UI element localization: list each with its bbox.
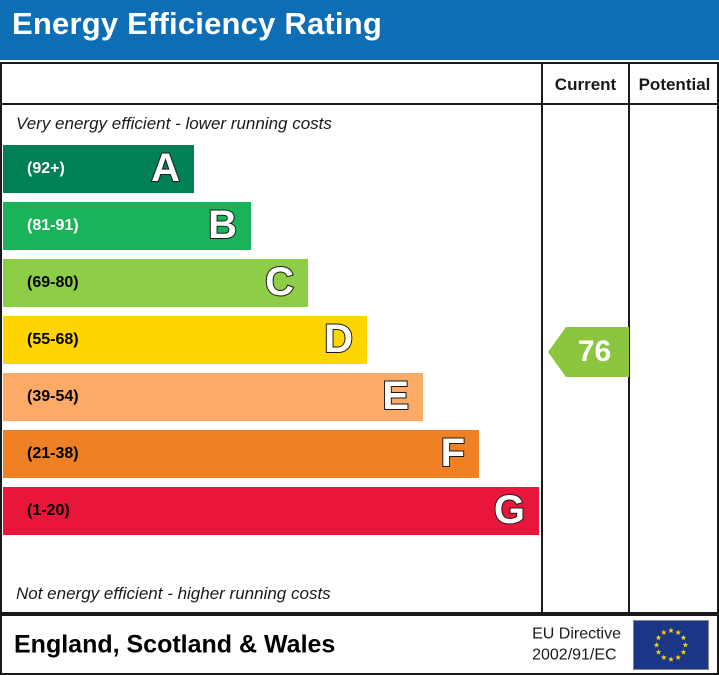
band-letter-a: A: [151, 148, 180, 188]
band-f: (21-38)F: [3, 430, 479, 478]
eu-star: [661, 629, 667, 634]
column-header-current: Current: [543, 64, 628, 105]
rating-table: Current Potential Very energy efficient …: [0, 62, 719, 614]
eu-star: [668, 656, 674, 661]
band-letter-c: C: [265, 262, 294, 302]
eu-star: [668, 627, 674, 632]
column-header-row: Current Potential: [2, 64, 717, 105]
band-range-b: (81-91): [27, 217, 79, 235]
bands-area: Very energy efficient - lower running co…: [2, 105, 539, 612]
band-range-g: (1-20): [27, 502, 70, 520]
caption-bottom: Not energy efficient - higher running co…: [16, 584, 331, 604]
footer-directive: EU Directive 2002/91/EC: [532, 623, 621, 666]
band-range-c: (69-80): [27, 274, 79, 292]
divider-current-column: [541, 64, 543, 612]
eu-star: [681, 634, 687, 639]
band-letter-d: D: [324, 319, 353, 359]
band-letter-f: F: [441, 433, 465, 473]
eu-star: [675, 654, 681, 659]
band-range-f: (21-38): [27, 445, 79, 463]
page-title: Energy Efficiency Rating: [12, 6, 382, 42]
band-e: (39-54)E: [3, 373, 423, 421]
footer: England, Scotland & Wales EU Directive 2…: [0, 614, 719, 675]
band-d: (55-68)D: [3, 316, 367, 364]
band-letter-e: E: [382, 376, 409, 416]
eu-star: [656, 634, 662, 639]
band-letter-g: G: [494, 490, 525, 530]
eu-flag-icon: [633, 620, 709, 670]
footer-directive-line2: 2002/91/EC: [532, 645, 621, 667]
band-letter-b: B: [208, 205, 237, 245]
band-range-e: (39-54): [27, 388, 79, 406]
caption-top: Very energy efficient - lower running co…: [16, 114, 332, 134]
band-g: (1-20)G: [3, 487, 539, 535]
footer-region-label: England, Scotland & Wales: [14, 630, 335, 659]
footer-directive-line1: EU Directive: [532, 623, 621, 645]
current-rating-arrow: 76: [548, 327, 629, 377]
epc-chart: Energy Efficiency Rating Current Potenti…: [0, 0, 719, 675]
eu-star: [656, 649, 662, 654]
band-range-a: (92+): [27, 160, 65, 178]
eu-star: [683, 642, 689, 647]
eu-star: [661, 654, 667, 659]
column-header-potential: Potential: [630, 64, 719, 105]
eu-star: [675, 629, 681, 634]
band-a: (92+)A: [3, 145, 194, 193]
band-range-d: (55-68): [27, 331, 79, 349]
band-b: (81-91)B: [3, 202, 251, 250]
title-bar: Energy Efficiency Rating: [0, 0, 719, 60]
current-rating-value: 76: [566, 337, 611, 367]
band-c: (69-80)C: [3, 259, 308, 307]
eu-star: [681, 649, 687, 654]
eu-flag-stars: [634, 621, 708, 669]
eu-star: [654, 642, 660, 647]
